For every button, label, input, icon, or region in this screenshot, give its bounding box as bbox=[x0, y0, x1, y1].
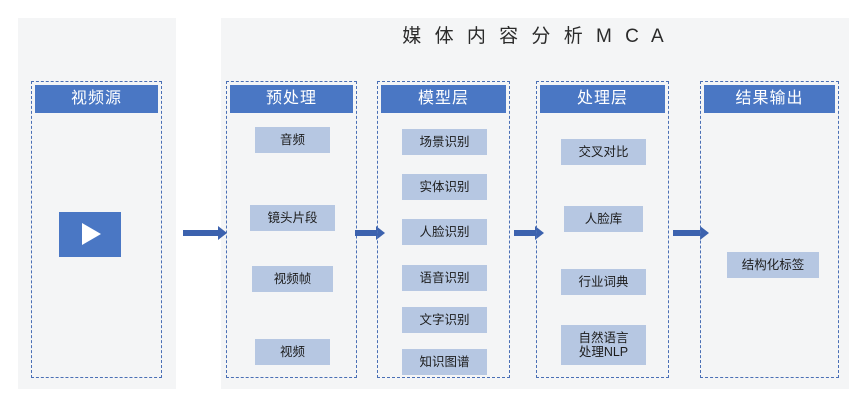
item-chip[interactable]: 场景识别 bbox=[402, 129, 487, 155]
arrow-shaft bbox=[183, 230, 218, 236]
item-chip[interactable]: 人脸识别 bbox=[402, 219, 487, 245]
item-chip[interactable]: 视频 bbox=[255, 339, 330, 365]
stage-header-processing-layer: 处理层 bbox=[540, 85, 665, 113]
stage-body-preprocess: 音频 镜头片段 视频帧 视频 bbox=[227, 113, 356, 377]
item-chip[interactable]: 视频帧 bbox=[252, 266, 333, 292]
item-chip[interactable]: 结构化标签 bbox=[727, 252, 819, 278]
stage-header-video-source: 视频源 bbox=[35, 85, 158, 113]
diagram-title: 媒 体 内 容 分 析 M C A bbox=[221, 17, 849, 57]
item-chip[interactable]: 文字识别 bbox=[402, 307, 487, 333]
arrow-shaft bbox=[514, 230, 535, 236]
item-chip[interactable]: 镜头片段 bbox=[250, 205, 335, 231]
item-chip[interactable]: 语音识别 bbox=[402, 265, 487, 291]
arrow-shaft bbox=[355, 230, 376, 236]
stage-header-preprocess: 预处理 bbox=[230, 85, 353, 113]
arrow-video-source-to-preprocess bbox=[183, 226, 227, 240]
stage-processing-layer: 处理层 交叉对比 人脸库 行业词典 自然语言 处理NLP bbox=[536, 81, 669, 378]
item-chip[interactable]: 交叉对比 bbox=[561, 139, 646, 165]
arrow-shaft bbox=[673, 230, 700, 236]
play-button-icon[interactable] bbox=[59, 212, 121, 257]
stage-body-result-output: 结构化标签 bbox=[701, 113, 838, 377]
diagram-canvas: 媒 体 内 容 分 析 M C A 视频源 预处理 音频 镜头片段 视频帧 视频… bbox=[0, 0, 859, 411]
item-chip[interactable]: 实体识别 bbox=[402, 174, 487, 200]
item-chip[interactable]: 自然语言 处理NLP bbox=[561, 325, 646, 365]
item-chip[interactable]: 行业词典 bbox=[561, 269, 646, 295]
play-triangle-icon bbox=[82, 223, 101, 245]
item-chip[interactable]: 人脸库 bbox=[564, 206, 643, 232]
item-chip[interactable]: 音频 bbox=[255, 127, 330, 153]
item-chip[interactable]: 知识图谱 bbox=[402, 349, 487, 375]
stage-result-output: 结果输出 结构化标签 bbox=[700, 81, 839, 378]
stage-header-result-output: 结果输出 bbox=[704, 85, 835, 113]
stage-body-model-layer: 场景识别 实体识别 人脸识别 语音识别 文字识别 知识图谱 bbox=[378, 113, 509, 377]
stage-body-processing-layer: 交叉对比 人脸库 行业词典 自然语言 处理NLP bbox=[537, 113, 668, 377]
stage-header-model-layer: 模型层 bbox=[381, 85, 506, 113]
stage-preprocess: 预处理 音频 镜头片段 视频帧 视频 bbox=[226, 81, 357, 378]
stage-model-layer: 模型层 场景识别 实体识别 人脸识别 语音识别 文字识别 知识图谱 bbox=[377, 81, 510, 378]
